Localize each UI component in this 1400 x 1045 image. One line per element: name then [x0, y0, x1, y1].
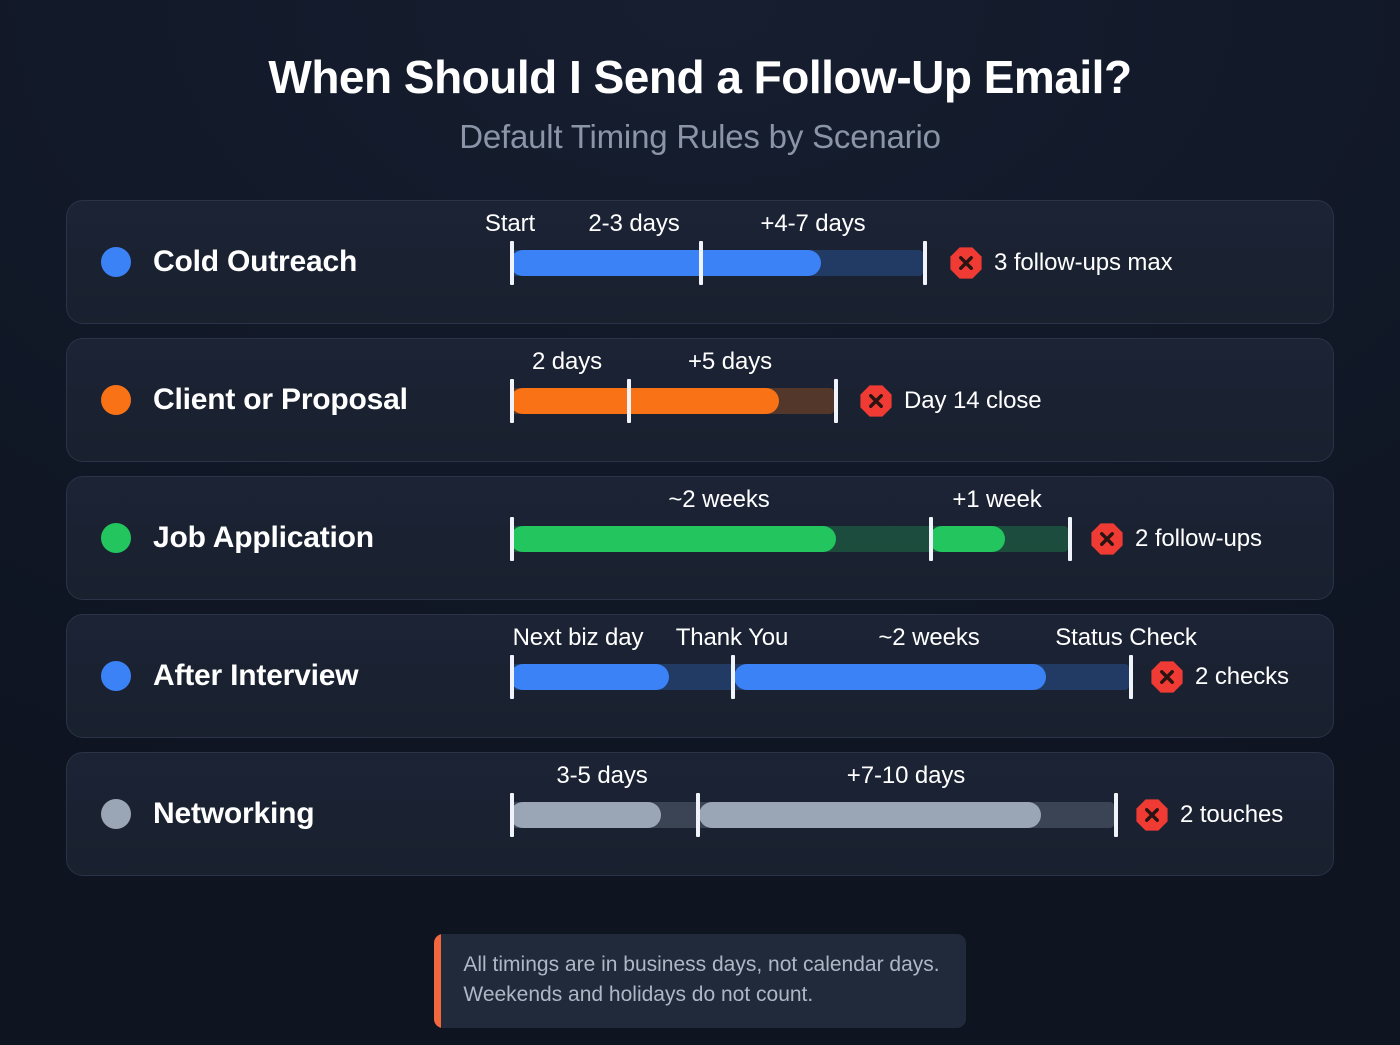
timeline-tick — [929, 517, 933, 561]
timeline-tick — [510, 241, 514, 285]
scenario-limit: 2 follow-ups — [1090, 522, 1262, 556]
scenario-color-dot — [101, 799, 131, 829]
page-subtitle: Default Timing Rules by Scenario — [0, 118, 1400, 156]
page-title: When Should I Send a Follow-Up Email? — [0, 52, 1400, 104]
timeline-stage-label: +5 days — [688, 348, 772, 376]
timeline-fill-segment[interactable] — [929, 526, 1005, 552]
timeline-tick — [1114, 793, 1118, 837]
timeline-tick — [834, 379, 838, 423]
scenario-limit-text: 2 checks — [1195, 663, 1289, 691]
scenario-row[interactable]: Networking3-5 days+7-10 days2 touches — [66, 752, 1334, 876]
timeline-fill-segment[interactable] — [734, 664, 1046, 690]
scenario-name: Networking — [153, 797, 314, 831]
scenario-name: After Interview — [153, 659, 358, 693]
timeline-fill-segment[interactable] — [510, 250, 821, 276]
timeline-stage-label: 2-3 days — [588, 210, 679, 238]
timeline-fill-segment[interactable] — [510, 802, 661, 828]
footer-note: All timings are in business days, not ca… — [434, 934, 965, 1028]
timeline-stage-label: +7-10 days — [847, 762, 965, 790]
timeline-stage-label: Status Check — [1055, 624, 1197, 652]
timeline-stage-label: 3-5 days — [556, 762, 647, 790]
scenario-row[interactable]: Client or Proposal2 days+5 daysDay 14 cl… — [66, 338, 1334, 462]
timeline-fill-segment[interactable] — [699, 802, 1041, 828]
scenario-color-dot — [101, 385, 131, 415]
timeline-tick — [696, 793, 700, 837]
timeline-stage-label: +4-7 days — [760, 210, 865, 238]
timeline-fill-segment[interactable] — [510, 664, 669, 690]
timeline-tick — [1068, 517, 1072, 561]
scenario-color-dot — [101, 661, 131, 691]
note-accent-bar — [434, 934, 441, 1028]
scenario-limit-text: 3 follow-ups max — [994, 249, 1172, 277]
stop-octagon-icon — [1135, 798, 1169, 832]
infographic-page: When Should I Send a Follow-Up Email? De… — [0, 0, 1400, 1045]
scenario-row[interactable]: Cold OutreachStart2-3 days+4-7 days3 fol… — [66, 200, 1334, 324]
footer-note-wrap: All timings are in business days, not ca… — [0, 934, 1400, 1028]
scenario-color-dot — [101, 523, 131, 553]
scenario-row[interactable]: Job Application~2 weeks+1 week2 follow-u… — [66, 476, 1334, 600]
timeline-stage-label: Thank You — [676, 624, 789, 652]
scenario-limit: 2 touches — [1135, 798, 1283, 832]
note-body: All timings are in business days, not ca… — [441, 934, 965, 1028]
scenario-rows: Cold OutreachStart2-3 days+4-7 days3 fol… — [0, 200, 1400, 876]
timeline-tick — [627, 379, 631, 423]
scenario-limit-text: 2 follow-ups — [1135, 525, 1262, 553]
timeline-tick — [510, 379, 514, 423]
timeline-tick — [923, 241, 927, 285]
timeline-stage-label: 2 days — [532, 348, 602, 376]
stop-octagon-icon — [1150, 660, 1184, 694]
scenario-name: Cold Outreach — [153, 245, 357, 279]
scenario-limit: Day 14 close — [859, 384, 1042, 418]
scenario-name: Job Application — [153, 521, 374, 555]
scenario-limit: 2 checks — [1150, 660, 1289, 694]
timeline-stage-label: Start — [485, 210, 535, 238]
timeline-tick — [1129, 655, 1133, 699]
timeline-stage-label: ~2 weeks — [878, 624, 979, 652]
scenario-name: Client or Proposal — [153, 383, 408, 417]
timeline-tick — [510, 655, 514, 699]
note-line-2: Weekends and holidays do not count. — [463, 980, 939, 1010]
timeline-tick — [699, 241, 703, 285]
scenario-row[interactable]: After InterviewNext biz dayThank You~2 w… — [66, 614, 1334, 738]
timeline-stage-label: Next biz day — [513, 624, 644, 652]
timeline-stage-label: +1 week — [952, 486, 1041, 514]
timeline-tick — [510, 793, 514, 837]
timeline-tick — [510, 517, 514, 561]
timeline-fill-segment[interactable] — [510, 388, 779, 414]
scenario-limit-text: Day 14 close — [904, 387, 1042, 415]
header: When Should I Send a Follow-Up Email? De… — [0, 0, 1400, 156]
stop-octagon-icon — [949, 246, 983, 280]
note-line-1: All timings are in business days, not ca… — [463, 950, 939, 980]
scenario-limit-text: 2 touches — [1180, 801, 1283, 829]
stop-octagon-icon — [859, 384, 893, 418]
scenario-color-dot — [101, 247, 131, 277]
stop-octagon-icon — [1090, 522, 1124, 556]
timeline-fill-segment[interactable] — [510, 526, 836, 552]
timeline-stage-label: ~2 weeks — [668, 486, 769, 514]
timeline-tick — [731, 655, 735, 699]
scenario-limit: 3 follow-ups max — [949, 246, 1172, 280]
